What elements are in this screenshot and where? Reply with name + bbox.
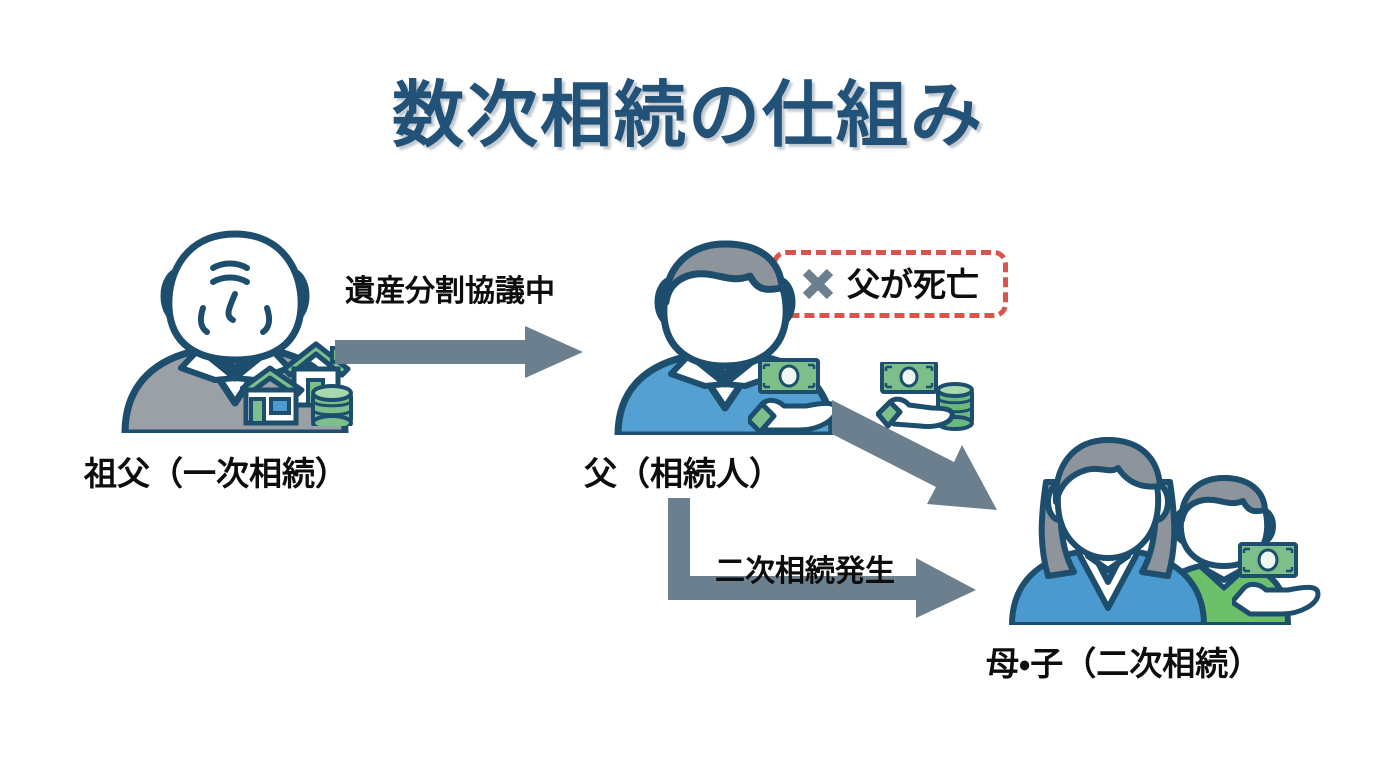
child-money-hand (1232, 542, 1322, 620)
hand-icon (748, 400, 836, 432)
arrow-caption-estate-discussion: 遺産分割協議中 (345, 266, 555, 310)
father-money-hand (748, 358, 838, 436)
hand-with-banknote-icon (748, 358, 838, 436)
banknote-icon (882, 362, 936, 392)
hand-icon (1232, 584, 1318, 614)
money-cluster-illustration (876, 362, 986, 447)
coin-stack-icon (313, 386, 351, 426)
arrow-estate-discussion (335, 326, 585, 378)
straight-arrow-icon (335, 326, 585, 378)
banknote-icon (760, 360, 818, 392)
arrow-caption-secondary-inheritance: 二次相続発生 (715, 546, 895, 590)
father-label: 父（相続人） (584, 447, 782, 495)
banknote-icon (1240, 544, 1296, 576)
grandfather-label: 祖父（一次相続） (84, 447, 348, 495)
page-title: 数次相続の仕組み (0, 56, 1376, 161)
mother-child-label: 母・子（二次相続） (986, 637, 1261, 685)
mother-illustration (1012, 440, 1204, 625)
death-badge-text: 父が死亡 (847, 268, 979, 301)
money-cluster (876, 362, 986, 447)
diagram-canvas: 数次相続の仕組み (0, 0, 1376, 768)
hand-with-banknote-icon (1232, 542, 1322, 620)
